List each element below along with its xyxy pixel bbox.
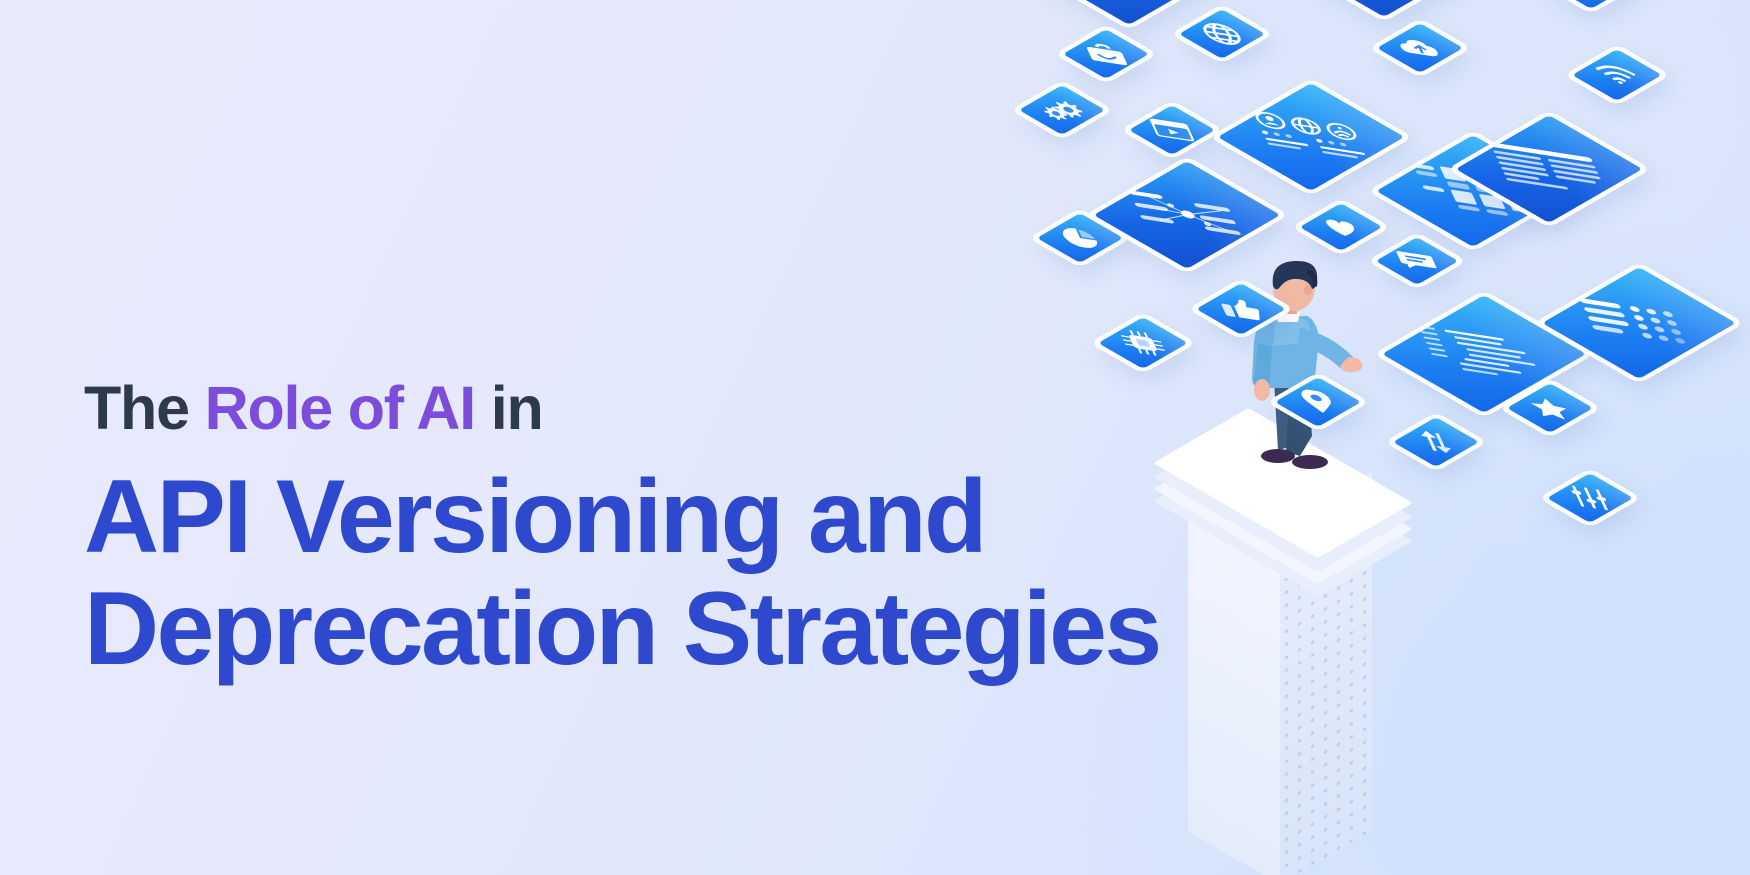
wifi-card [1586, 44, 1648, 106]
eyebrow-highlight: Role of AI [205, 374, 475, 442]
hero-illustration [1020, 0, 1750, 875]
avatar-stats-card [1252, 78, 1370, 196]
ear [1304, 285, 1312, 295]
gear-card [1032, 80, 1092, 140]
document-lines-card [1490, 110, 1608, 228]
star-card [1520, 378, 1580, 438]
video-player-card [1142, 100, 1202, 160]
dot-matrix-icon [1575, 295, 1702, 351]
code-editor-icon [1414, 322, 1553, 385]
video-player-icon [1146, 116, 1198, 143]
location-pin-card [1288, 372, 1348, 432]
avatar-stats-icon [1247, 108, 1375, 166]
eyebrow-prefix: The [84, 374, 205, 442]
cloud-upload-icon [1394, 35, 1445, 61]
thumbs-up-icon [1216, 295, 1266, 323]
transfer-arrows-icon [1413, 428, 1459, 455]
cpu-chip-icon [1116, 327, 1170, 358]
headline-line-1: API Versioning and [84, 459, 985, 575]
heart-card [1312, 198, 1370, 256]
shoe-front [1292, 455, 1328, 469]
hero-banner: The Role of AI in API Versioning and Dep… [0, 0, 1750, 875]
globe-icon [1197, 19, 1248, 48]
wifi-icon [1591, 62, 1642, 88]
sliders-card [1560, 468, 1620, 528]
location-pin-icon [1297, 388, 1339, 416]
briefcase-card [1076, 24, 1136, 84]
hand-back [1254, 379, 1270, 401]
chat-card [1388, 232, 1446, 290]
network-graph-icon [1125, 187, 1250, 243]
cloud-upload-card [1390, 18, 1450, 78]
document-lines-icon [1486, 140, 1611, 197]
gear-icon [1035, 95, 1088, 125]
chat-bubble-icon [1393, 248, 1440, 274]
briefcase-icon [1081, 41, 1131, 68]
fingerprint-card [1560, 0, 1622, 14]
sliders-icon [1566, 484, 1614, 512]
heart-icon [1317, 214, 1364, 240]
globe-card [1192, 4, 1252, 64]
shoe-back [1261, 449, 1295, 463]
thumbs-up-card [1210, 278, 1272, 340]
pie-chart-icon [1056, 224, 1104, 252]
cpu-chip-card [1112, 312, 1174, 374]
star-icon [1526, 394, 1574, 421]
eyebrow-suffix: in [475, 374, 543, 442]
transfer-card [1406, 412, 1466, 472]
dot-matrix-card [1578, 262, 1700, 384]
network-graph-card [1128, 156, 1246, 274]
